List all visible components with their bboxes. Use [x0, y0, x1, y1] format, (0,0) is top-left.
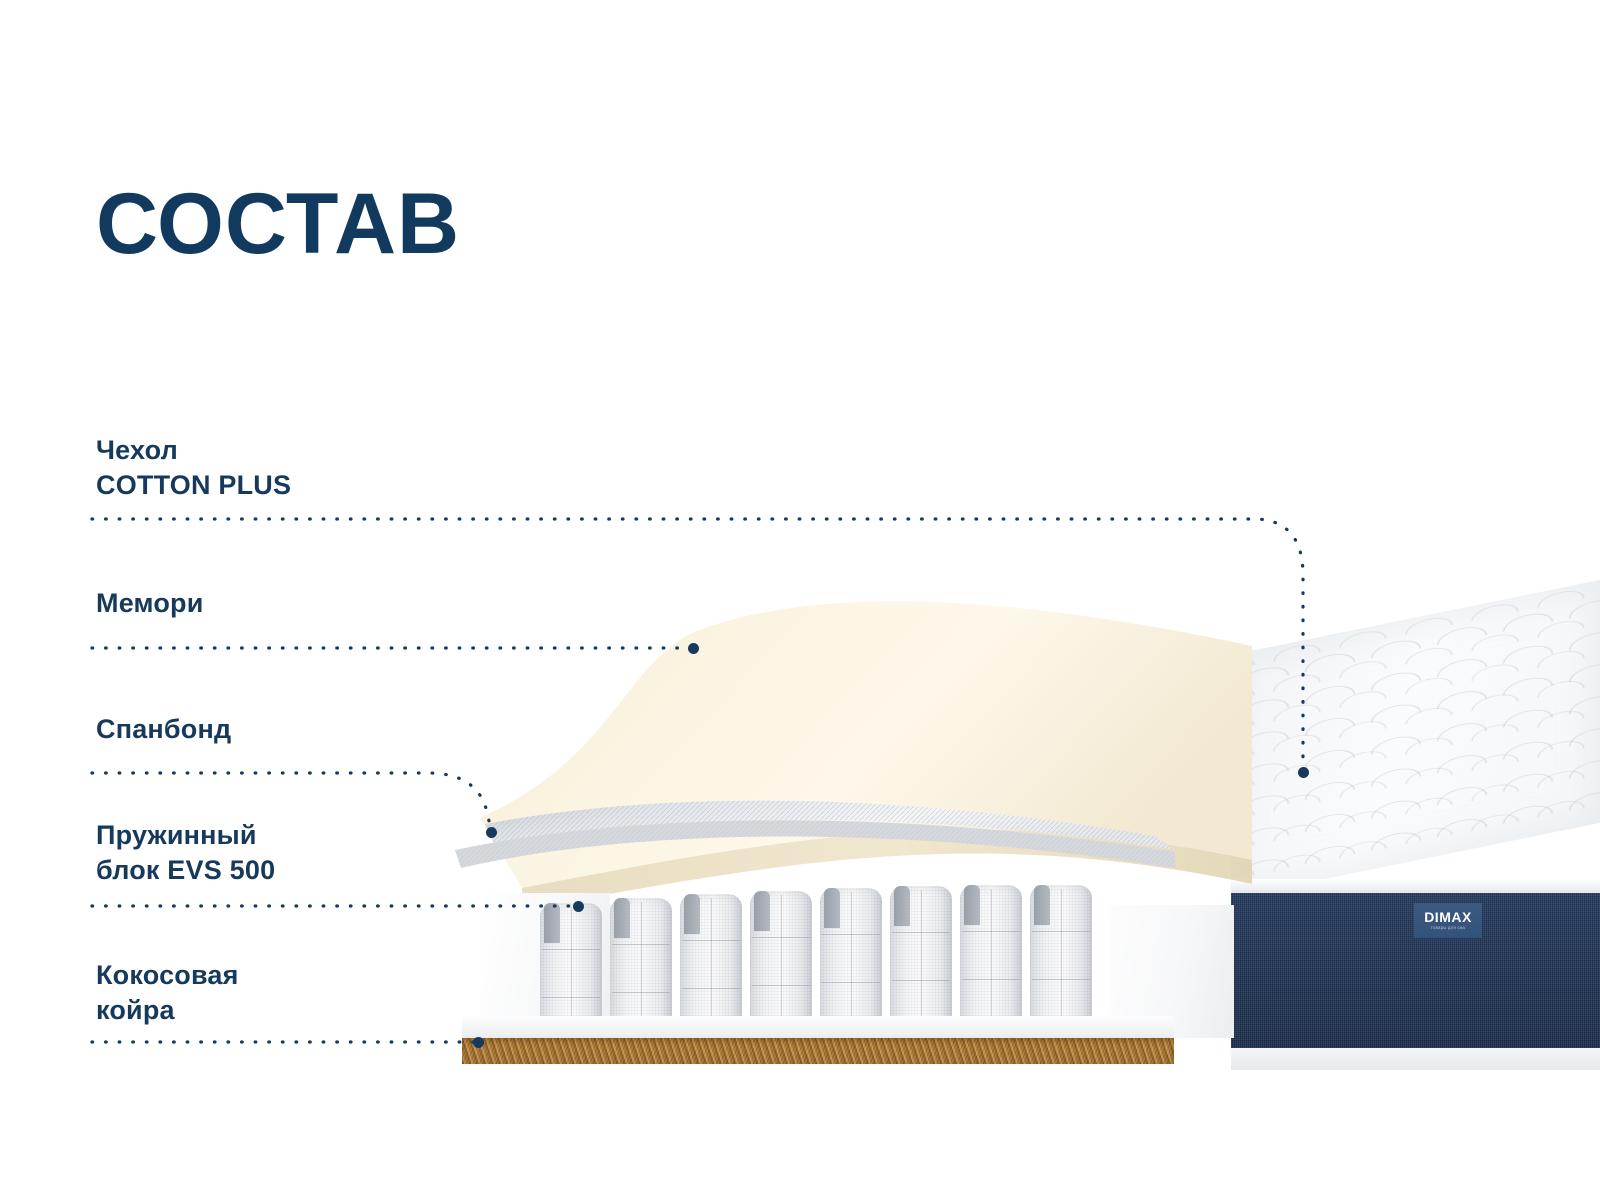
spring-shadow: [894, 886, 910, 926]
leader-dot-coir: [473, 1037, 484, 1048]
leader-dot-spunbond: [486, 827, 497, 838]
leader-dot-cover: [1298, 767, 1309, 778]
leader-dot-memory: [688, 643, 699, 654]
spring-shadow: [544, 903, 560, 943]
mattress-bottom-trim: [1231, 1048, 1600, 1070]
infographic-canvas: СОСТАВ DIMAX товары для сна: [0, 0, 1600, 1201]
spring-shadow: [964, 885, 980, 925]
mattress-quilted-top-surface: [1231, 580, 1600, 898]
layer-label-memory: Мемори: [96, 586, 204, 621]
spring-shadow: [1034, 885, 1050, 925]
spring-shadow: [614, 898, 630, 938]
layer-label-coir: Кокосовая койра: [96, 958, 239, 1028]
spring-shadow: [684, 894, 700, 934]
spring-shadow: [824, 888, 840, 928]
layer-label-spunbond: Спанбонд: [96, 712, 231, 747]
dimax-tagline: товары для сна: [1431, 926, 1465, 930]
dimax-brand-label: DIMAX товары для сна: [1414, 903, 1482, 938]
mattress-cutaway-illustration: DIMAX товары для сна: [0, 0, 1600, 1201]
coconut-coir-layer: [462, 1038, 1174, 1064]
leader-dot-spring: [573, 901, 584, 912]
layer-label-cover: Чехол COTTON PLUS: [96, 433, 291, 503]
dimax-wordmark: DIMAX: [1424, 910, 1472, 924]
spring-shadow: [754, 891, 770, 931]
layer-label-spring-block: Пружинный блок EVS 500: [96, 818, 275, 888]
